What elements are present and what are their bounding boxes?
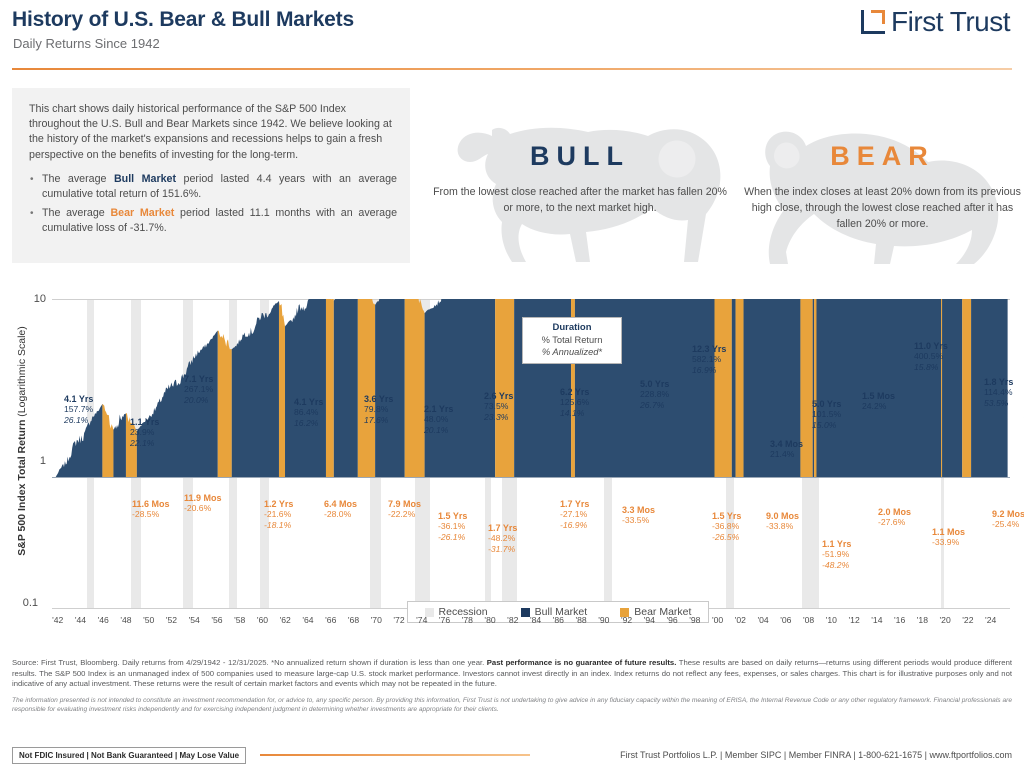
page-header: History of U.S. Bear & Bull Markets Dail… (0, 0, 1024, 70)
bull-market-label: 5.0 Yrs101.5%15.0% (812, 399, 841, 430)
header-divider (12, 68, 1012, 70)
bullet1-emphasis: Bull Market (114, 173, 176, 185)
x-axis-tick: '12 (849, 615, 860, 625)
bullet1-pre: The average (42, 173, 114, 185)
x-axis-tick: '04 (757, 615, 768, 625)
bear-market-label: 1.5 Yrs-36.8%-26.5% (712, 511, 741, 542)
bull-market-area (232, 301, 279, 477)
bear-market-label: 11.6 Mos-28.5% (132, 499, 170, 520)
x-axis-tick: '72 (393, 615, 404, 625)
bull-market-label: 6.2 Yrs125.6%14.1% (560, 387, 589, 418)
bear-market-area (405, 299, 425, 477)
market-history-chart: S&P 500 Index Total Return (Logarithmic … (0, 285, 1024, 645)
x-axis-tick: '20 (940, 615, 951, 625)
y-axis-label: S&P 500 Index Total Return (Logarithmic … (16, 301, 28, 581)
bull-market-area (813, 299, 814, 477)
x-axis-tick: '66 (325, 615, 336, 625)
x-axis-tick: '70 (371, 615, 382, 625)
x-axis-tick: '96 (666, 615, 677, 625)
bear-market-label: 9.0 Mos-33.8% (766, 511, 799, 532)
x-axis-tick: '46 (98, 615, 109, 625)
disclaimer-primary: Source: First Trust, Bloomberg. Daily re… (12, 658, 1012, 690)
y-tick-10: 10 (20, 293, 46, 305)
bear-market-area (218, 330, 232, 477)
bull-market-label: 7.1 Yrs267.1%20.0% (184, 374, 213, 405)
x-axis-tick: '68 (348, 615, 359, 625)
page-title: History of U.S. Bear & Bull Markets (12, 8, 354, 32)
bull-market-area (732, 299, 736, 477)
bear-market-area (814, 299, 816, 477)
x-axis-tick: '76 (439, 615, 450, 625)
x-axis-tick: '78 (462, 615, 473, 625)
y-tick-1: 1 (20, 455, 46, 467)
x-axis-tick: '50 (143, 615, 154, 625)
bear-market-label: 9.2 Mos-25.4% (992, 509, 1024, 530)
x-axis-tick: '82 (507, 615, 518, 625)
bull-market-label: 4.1 Yrs157.7%26.1% (64, 394, 93, 425)
bull-market-label: 1.1 Yrs23.9%22.1% (130, 417, 159, 448)
bear-market-area (358, 299, 375, 477)
bear-silhouette-icon (740, 96, 1024, 266)
disclaimer-a: Source: First Trust, Bloomberg. Daily re… (12, 658, 487, 667)
bear-market-area (962, 299, 971, 477)
intro-paragraph: This chart shows daily historical perfor… (29, 102, 394, 163)
bull-description: From the lowest close reached after the … (430, 184, 730, 216)
bull-market-area (816, 299, 941, 477)
bear-definition-panel: BEAR When the index closes at least 20% … (740, 96, 1024, 266)
duration-key-legend: Duration % Total Return % Annualized* (522, 317, 622, 364)
bull-market-label: 11.0 Yrs400.5%15.8% (914, 341, 948, 372)
duration-key-line1: Duration (529, 322, 615, 334)
bull-market-area (375, 299, 405, 477)
bull-definition-panel: BULL From the lowest close reached after… (430, 96, 730, 266)
x-axis-tick: '98 (689, 615, 700, 625)
bull-market-area (425, 299, 496, 477)
x-axis-tick: '88 (575, 615, 586, 625)
x-axis-tick: '00 (712, 615, 723, 625)
bull-market-area (334, 299, 358, 477)
bullet-bull-market: The average Bull Market period lasted 4.… (42, 172, 397, 202)
x-axis-tick: '56 (211, 615, 222, 625)
bear-market-label: 3.3 Mos-33.5% (622, 505, 655, 526)
disclaimer-b: Past performance is no guarantee of futu… (487, 658, 677, 667)
bull-market-label: 2.1 Yrs48.0%20.1% (424, 404, 453, 435)
footer-accent-rule (260, 754, 530, 756)
chart-plot-area: Duration % Total Return % Annualized* 4.… (52, 299, 1010, 609)
bear-market-label: 1.1 Yrs-51.9%-48.2% (822, 539, 851, 570)
bear-market-area (941, 299, 942, 477)
bullet-bear-market: The average Bear Market period lasted 11… (42, 206, 397, 236)
bear-market-area (715, 299, 732, 477)
bear-market-label: 1.1 Mos-33.9% (932, 527, 965, 548)
x-axis-tick: '54 (189, 615, 200, 625)
duration-key-line3: % Annualized* (529, 346, 615, 358)
x-axis: '42'44'46'48'50'52'54'56'58'60'62'64'66'… (52, 615, 1010, 631)
bullet2-emphasis: Bear Market (110, 207, 174, 219)
footer-disclaimers: Source: First Trust, Bloomberg. Daily re… (12, 658, 1012, 715)
x-axis-tick: '94 (644, 615, 655, 625)
bear-title: BEAR (740, 141, 1024, 172)
x-axis-tick: '18 (917, 615, 928, 625)
x-axis-tick: '52 (166, 615, 177, 625)
footer-contact-info[interactable]: First Trust Portfolios L.P. | Member SIP… (620, 750, 1012, 760)
y-tick-0-1: 0.1 (12, 597, 38, 609)
bear-market-label: 1.2 Yrs-21.6%-18.1% (264, 499, 293, 530)
x-axis-tick: '24 (985, 615, 996, 625)
x-axis-tick: '86 (553, 615, 564, 625)
bull-market-area (942, 299, 962, 477)
bull-market-label: 3.6 Yrs79.8%17.6% (364, 394, 393, 425)
x-axis-tick: '90 (598, 615, 609, 625)
bull-title: BULL (430, 141, 730, 172)
bull-silhouette-icon (430, 96, 730, 266)
x-axis-tick: '58 (234, 615, 245, 625)
bull-market-label: 5.0 Yrs228.8%26.7% (640, 379, 669, 410)
brand-name: First Trust (891, 6, 1010, 38)
x-axis-tick: '10 (826, 615, 837, 625)
fdic-notice: Not FDIC Insured | Not Bank Guaranteed |… (12, 747, 246, 764)
bear-market-area (495, 299, 514, 477)
x-axis-tick: '84 (530, 615, 541, 625)
bear-market-label: 7.9 Mos-22.2% (388, 499, 421, 520)
x-axis-tick: '08 (803, 615, 814, 625)
x-axis-tick: '06 (780, 615, 791, 625)
disclaimer-secondary: The information presented is not intende… (12, 696, 1012, 715)
bear-market-label: 2.0 Mos-27.6% (878, 507, 911, 528)
bull-market-label: 3.4 Mos21.4% (770, 439, 803, 460)
first-trust-square-logo-icon (861, 10, 885, 34)
x-axis-tick: '64 (302, 615, 313, 625)
x-axis-tick: '44 (75, 615, 86, 625)
bullet2-pre: The average (42, 207, 110, 219)
footer-bar: Not FDIC Insured | Not Bank Guaranteed |… (12, 745, 1012, 765)
x-axis-tick: '92 (621, 615, 632, 625)
bear-market-label: 1.7 Yrs-48.2%-31.7% (488, 523, 517, 554)
bear-market-label: 11.9 Mos-20.6% (184, 493, 222, 514)
x-axis-tick: '42 (52, 615, 63, 625)
x-axis-tick: '74 (416, 615, 427, 625)
bear-market-area (102, 404, 113, 477)
bull-market-label: 12.3 Yrs582.1%16.9% (692, 344, 726, 375)
x-axis-tick: '62 (280, 615, 291, 625)
x-axis-tick: '80 (484, 615, 495, 625)
bull-market-label: 2.6 Yrs73.5%23.3% (484, 391, 513, 422)
bear-market-label: 6.4 Mos-28.0% (324, 499, 357, 520)
bear-market-area (736, 299, 744, 477)
intro-panel: This chart shows daily historical perfor… (12, 88, 410, 263)
bear-market-area (326, 299, 334, 477)
duration-key-line2: % Total Return (529, 334, 615, 346)
bull-market-label: 1.8 Yrs114.4%53.5% (984, 377, 1013, 408)
brand-logo: First Trust (861, 6, 1010, 38)
page-subtitle: Daily Returns Since 1942 (13, 36, 160, 51)
bull-market-area (285, 299, 326, 477)
bear-description: When the index closes at least 20% down … (740, 184, 1024, 232)
x-axis-tick: '02 (735, 615, 746, 625)
bull-market-label: 4.1 Yrs86.4%16.2% (294, 397, 323, 428)
bull-market-area (113, 413, 126, 477)
bear-market-label: 1.5 Yrs-36.1%-26.1% (438, 511, 467, 542)
x-axis-tick: '16 (894, 615, 905, 625)
bull-market-label: 1.5 Mos24.2% (862, 391, 895, 412)
x-axis-tick: '48 (120, 615, 131, 625)
bear-market-label: 1.7 Yrs-27.1%-16.9% (560, 499, 589, 530)
x-axis-tick: '14 (871, 615, 882, 625)
x-axis-tick: '22 (962, 615, 973, 625)
bear-market-area (279, 301, 285, 477)
x-axis-tick: '60 (257, 615, 268, 625)
